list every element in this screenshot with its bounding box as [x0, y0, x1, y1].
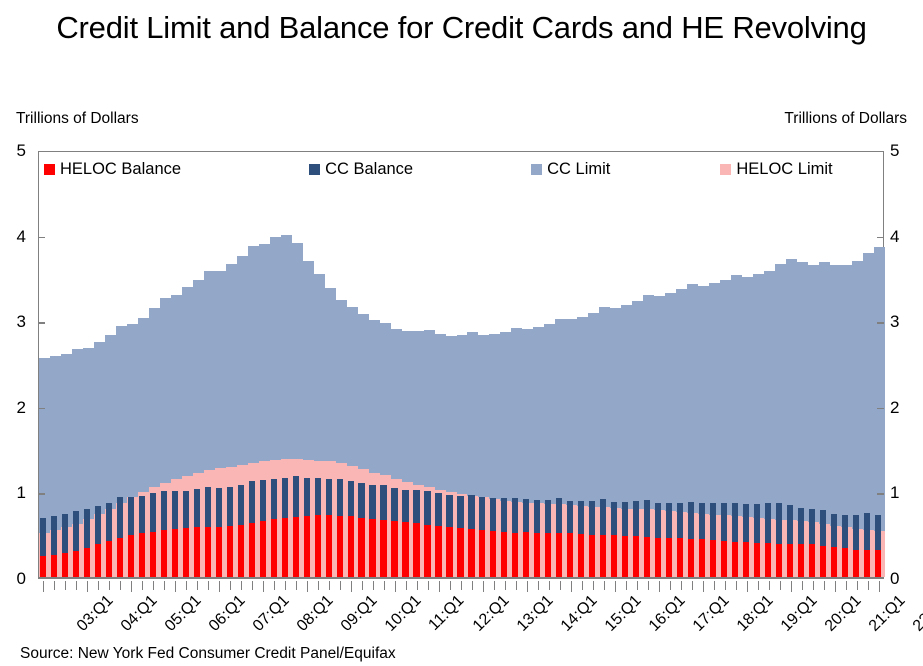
- legend-swatch-icon: [44, 164, 55, 175]
- legend-swatch-icon: [309, 164, 320, 175]
- bar-group[interactable]: [632, 152, 643, 577]
- x-tick-mark: [549, 581, 550, 590]
- bar-group[interactable]: [566, 152, 577, 577]
- x-tick-mark: [439, 581, 440, 592]
- legend-label: CC Limit: [547, 160, 610, 179]
- x-tick-mark: [615, 581, 616, 592]
- x-tick-mark: [417, 581, 418, 590]
- bar-segment-heloc-balance: [106, 541, 112, 577]
- bar-group[interactable]: [358, 152, 369, 577]
- bar-segment-heloc-balance: [380, 520, 386, 577]
- y-axis-unit-right: Trillions of Dollars: [784, 110, 907, 128]
- chart-title: Credit Limit and Balance for Credit Card…: [0, 8, 923, 48]
- x-tick-mark: [571, 581, 572, 592]
- bar-group[interactable]: [489, 152, 500, 577]
- y-tick-label-left: 2: [0, 399, 26, 416]
- bar-segment-heloc-balance: [304, 516, 310, 577]
- x-tick-label: 15:Q1: [602, 592, 646, 636]
- bar-segment-heloc-balance: [853, 550, 859, 577]
- y-tick-label-left: 4: [0, 228, 26, 245]
- x-tick-mark: [395, 581, 396, 592]
- bar-segment-heloc-balance: [655, 538, 661, 577]
- bar-group[interactable]: [665, 152, 676, 577]
- y-tick-label-right: 0: [890, 570, 916, 587]
- bar-group[interactable]: [544, 152, 555, 577]
- plot-inner: [39, 152, 883, 577]
- x-tick-label: 09:Q1: [338, 592, 382, 636]
- bar-segment-heloc-balance: [831, 547, 837, 577]
- bar-segment-heloc-balance: [293, 517, 299, 577]
- bar-segment-heloc-balance: [512, 533, 518, 578]
- bar-segment-heloc-balance: [754, 543, 760, 577]
- bar-segment-heloc-balance: [600, 535, 606, 577]
- bar-segment-heloc-balance: [578, 534, 584, 577]
- y-tick-mark: [38, 237, 45, 239]
- x-tick-mark: [208, 581, 209, 590]
- x-tick-mark: [736, 581, 737, 590]
- bar-segment-heloc-balance: [809, 544, 815, 577]
- x-tick-mark: [758, 581, 759, 590]
- bar-group[interactable]: [786, 152, 797, 577]
- bar-group[interactable]: [171, 152, 182, 577]
- bar-segment-heloc-balance: [666, 538, 672, 577]
- bar-group[interactable]: [753, 152, 764, 577]
- x-tick-mark: [472, 581, 473, 590]
- x-tick-label: 17:Q1: [690, 592, 734, 636]
- bar-segment-heloc-balance: [413, 523, 419, 577]
- bar-segment-heloc-balance: [787, 544, 793, 577]
- bar-segment-heloc-balance: [567, 533, 573, 577]
- x-tick-mark: [428, 581, 429, 590]
- bar-group[interactable]: [709, 152, 720, 577]
- bar-segment-heloc-balance: [402, 522, 408, 577]
- bar-group[interactable]: [500, 152, 511, 577]
- bar-segment-heloc-balance: [238, 525, 244, 577]
- bar-group[interactable]: [193, 152, 204, 577]
- bar-segment-heloc-balance: [732, 542, 738, 577]
- bar-group[interactable]: [215, 152, 226, 577]
- chart-legend: HELOC BalanceCC BalanceCC LimitHELOC Lim…: [44, 158, 878, 180]
- bar-group[interactable]: [808, 152, 819, 577]
- x-tick-label: 10:Q1: [382, 592, 426, 636]
- x-tick-label: 11:Q1: [425, 592, 468, 635]
- bar-group[interactable]: [588, 152, 599, 577]
- bar-group[interactable]: [105, 152, 116, 577]
- x-tick-mark: [846, 581, 847, 590]
- y-tick-label-right: 3: [890, 313, 916, 330]
- bar-segment-heloc-balance: [40, 556, 46, 577]
- bar-group[interactable]: [841, 152, 852, 577]
- bar-group[interactable]: [237, 152, 248, 577]
- x-tick-mark: [582, 581, 583, 590]
- bar-segment-heloc-balance: [271, 519, 277, 577]
- bar-group[interactable]: [731, 152, 742, 577]
- x-tick-mark: [659, 581, 660, 592]
- bar-group[interactable]: [446, 152, 457, 577]
- x-tick-mark: [230, 581, 231, 590]
- y-tick-mark: [877, 408, 884, 410]
- bar-segment-heloc-balance: [490, 531, 496, 577]
- x-tick-mark: [516, 581, 517, 590]
- legend-swatch-icon: [720, 164, 731, 175]
- bar-group[interactable]: [852, 152, 863, 577]
- bar-segment-heloc-balance: [205, 527, 211, 577]
- bar-group[interactable]: [248, 152, 259, 577]
- bar-segment-heloc-balance: [699, 539, 705, 577]
- bar-segment-heloc-balance: [51, 555, 57, 577]
- bar-group[interactable]: [830, 152, 841, 577]
- x-tick-mark: [120, 581, 121, 590]
- x-tick-mark: [604, 581, 605, 590]
- x-tick-mark: [54, 581, 55, 590]
- bar-segment-heloc-balance: [743, 542, 749, 577]
- bar-segment-heloc-balance: [161, 530, 167, 577]
- bar-group[interactable]: [413, 152, 424, 577]
- bar-segment-heloc-balance: [117, 538, 123, 577]
- bar-segment-heloc-balance: [611, 535, 617, 577]
- x-tick-mark: [637, 581, 638, 590]
- source-note: Source: New York Fed Consumer Credit Pan…: [20, 645, 396, 663]
- bar-group[interactable]: [149, 152, 160, 577]
- x-tick-mark: [406, 581, 407, 590]
- bar-segment-heloc-balance: [424, 525, 430, 577]
- bar-segment-heloc-balance: [721, 541, 727, 577]
- x-tick-mark: [527, 581, 528, 592]
- bar-segment-heloc-balance: [435, 526, 441, 577]
- x-tick-mark: [681, 581, 682, 590]
- bar-group[interactable]: [698, 152, 709, 577]
- y-tick-label-right: 2: [890, 399, 916, 416]
- bars-layer: [39, 152, 883, 577]
- bar-segment-heloc-balance: [457, 528, 463, 577]
- x-tick-mark: [43, 581, 44, 592]
- y-tick-label-right: 4: [890, 228, 916, 245]
- x-tick-mark: [648, 581, 649, 590]
- x-tick-mark: [340, 581, 341, 590]
- bar-group[interactable]: [687, 152, 698, 577]
- y-tick-mark: [38, 493, 45, 495]
- x-tick-mark: [824, 581, 825, 590]
- x-tick-label: 22:Q1: [909, 592, 923, 636]
- x-tick-mark: [494, 581, 495, 590]
- bar-segment-heloc-balance: [249, 523, 255, 577]
- bar-segment-heloc-balance: [369, 519, 375, 577]
- x-tick-mark: [252, 581, 253, 590]
- bar-group[interactable]: [336, 152, 347, 577]
- legend-item-cc-balance[interactable]: CC Balance: [309, 160, 413, 179]
- chart-container: Credit Limit and Balance for Credit Card…: [0, 0, 923, 666]
- bar-segment-heloc-balance: [326, 515, 332, 577]
- bar-segment-heloc-balance: [358, 518, 364, 577]
- bar-group[interactable]: [50, 152, 61, 577]
- bar-group[interactable]: [314, 152, 325, 577]
- x-tick-label: 21:Q1: [865, 592, 909, 636]
- bar-group[interactable]: [577, 152, 588, 577]
- x-tick-mark: [802, 581, 803, 590]
- bar-group[interactable]: [457, 152, 468, 577]
- bar-group[interactable]: [511, 152, 522, 577]
- x-tick-label: 08:Q1: [294, 592, 338, 636]
- bar-segment-heloc-balance: [864, 550, 870, 577]
- x-tick-mark: [65, 581, 66, 590]
- x-tick-mark: [296, 581, 297, 590]
- bar-segment-heloc-balance: [227, 526, 233, 577]
- x-tick-mark: [351, 581, 352, 592]
- x-tick-mark: [219, 581, 220, 592]
- x-tick-mark: [769, 581, 770, 590]
- bar-segment-heloc-balance: [556, 533, 562, 577]
- bar-segment-heloc-balance: [172, 529, 178, 577]
- bar-group[interactable]: [204, 152, 215, 577]
- bar-group[interactable]: [621, 152, 632, 577]
- bar-group[interactable]: [402, 152, 413, 577]
- x-tick-mark: [373, 581, 374, 590]
- bar-group[interactable]: [160, 152, 171, 577]
- x-tick-mark: [98, 581, 99, 590]
- bar-segment-heloc-balance: [315, 515, 321, 577]
- x-tick-mark: [670, 581, 671, 590]
- bar-group[interactable]: [797, 152, 808, 577]
- bar-segment-heloc-balance: [765, 543, 771, 577]
- x-tick-mark: [362, 581, 363, 590]
- y-tick-label-left: 3: [0, 313, 26, 330]
- bar-segment-heloc-balance: [820, 546, 826, 577]
- bar-group[interactable]: [369, 152, 380, 577]
- bar-group[interactable]: [325, 152, 336, 577]
- x-tick-label: 18:Q1: [733, 592, 777, 636]
- x-tick-label: 19:Q1: [777, 592, 821, 636]
- bar-segment-heloc-balance: [194, 527, 200, 577]
- x-tick-mark: [164, 581, 165, 590]
- x-tick-mark: [857, 581, 858, 590]
- bar-segment-heloc-balance: [523, 532, 529, 577]
- legend-item-heloc-limit[interactable]: HELOC Limit: [720, 160, 832, 179]
- bar-segment-heloc-balance: [842, 548, 848, 577]
- x-tick-mark: [131, 581, 132, 592]
- bar-group[interactable]: [281, 152, 292, 577]
- bar-group[interactable]: [292, 152, 303, 577]
- bar-segment-heloc-balance: [622, 536, 628, 577]
- x-tick-mark: [263, 581, 264, 592]
- bar-group[interactable]: [424, 152, 435, 577]
- bar-segment-heloc-balance: [589, 535, 595, 577]
- legend-label: HELOC Balance: [60, 160, 181, 179]
- x-tick-mark: [835, 581, 836, 592]
- x-tick-mark: [384, 581, 385, 590]
- bar-group[interactable]: [478, 152, 489, 577]
- bar-group[interactable]: [138, 152, 149, 577]
- x-tick-mark: [274, 581, 275, 590]
- x-tick-mark: [538, 581, 539, 590]
- legend-swatch-icon: [531, 164, 542, 175]
- bar-group[interactable]: [863, 152, 874, 577]
- bar-segment-heloc-balance: [391, 521, 397, 577]
- bar-segment-heloc-balance: [875, 550, 881, 577]
- bar-group[interactable]: [742, 152, 753, 577]
- y-tick-mark: [877, 322, 884, 324]
- bar-group[interactable]: [654, 152, 665, 577]
- x-tick-mark: [747, 581, 748, 592]
- x-tick-mark: [461, 581, 462, 590]
- bar-group[interactable]: [720, 152, 731, 577]
- bar-segment-heloc-balance: [776, 544, 782, 577]
- x-tick-mark: [142, 581, 143, 590]
- x-tick-mark: [868, 581, 869, 590]
- bar-segment-heloc-balance: [633, 536, 639, 577]
- bar-segment-heloc-balance: [95, 544, 101, 577]
- legend-label: HELOC Limit: [736, 160, 832, 179]
- x-tick-mark: [285, 581, 286, 590]
- bar-group[interactable]: [643, 152, 654, 577]
- bar-segment-heloc-balance: [644, 537, 650, 577]
- x-tick-label: 12:Q1: [470, 592, 514, 636]
- x-tick-mark: [593, 581, 594, 590]
- x-tick-mark: [791, 581, 792, 592]
- bar-group[interactable]: [676, 152, 687, 577]
- bar-group[interactable]: [83, 152, 94, 577]
- x-tick-label: 13:Q1: [514, 592, 558, 636]
- bar-segment-heloc-balance: [479, 530, 485, 577]
- x-tick-label: 05:Q1: [162, 592, 206, 636]
- x-tick-mark: [714, 581, 715, 590]
- bar-segment-heloc-balance: [73, 551, 79, 577]
- bar-segment-heloc-balance: [139, 533, 145, 577]
- x-tick-mark: [505, 581, 506, 590]
- bar-group[interactable]: [391, 152, 402, 577]
- bar-group[interactable]: [380, 152, 391, 577]
- y-tick-label-right: 5: [890, 142, 916, 159]
- x-tick-mark: [175, 581, 176, 592]
- bar-group[interactable]: [127, 152, 138, 577]
- bar-group[interactable]: [72, 152, 83, 577]
- x-tick-mark: [692, 581, 693, 590]
- bar-group[interactable]: [259, 152, 270, 577]
- y-axis-unit-left: Trillions of Dollars: [16, 110, 139, 128]
- x-tick-mark: [318, 581, 319, 590]
- x-tick-mark: [780, 581, 781, 590]
- bar-segment-heloc-balance: [183, 528, 189, 577]
- x-tick-mark: [813, 581, 814, 590]
- bar-segment-heloc-balance: [337, 516, 343, 577]
- bar-segment-heloc-balance: [710, 540, 716, 577]
- bar-group[interactable]: [94, 152, 105, 577]
- x-tick-mark: [560, 581, 561, 590]
- x-tick-label: 04:Q1: [118, 592, 162, 636]
- bar-segment-heloc-balance: [62, 553, 68, 577]
- bar-group[interactable]: [303, 152, 314, 577]
- bar-group[interactable]: [226, 152, 237, 577]
- x-tick-label: 03:Q1: [74, 592, 118, 636]
- x-tick-mark: [186, 581, 187, 590]
- y-tick-label-left: 5: [0, 142, 26, 159]
- x-tick-mark: [450, 581, 451, 590]
- bar-segment-heloc-balance: [468, 529, 474, 577]
- y-tick-label-right: 1: [890, 484, 916, 501]
- bar-segment-heloc-balance: [534, 533, 540, 578]
- bar-segment-heloc-balance: [446, 527, 452, 577]
- bar-group[interactable]: [61, 152, 72, 577]
- x-tick-mark: [87, 581, 88, 592]
- y-tick-mark: [38, 322, 45, 324]
- y-tick-mark: [877, 237, 884, 239]
- bar-group[interactable]: [775, 152, 786, 577]
- x-tick-mark: [483, 581, 484, 592]
- x-tick-mark: [197, 581, 198, 590]
- x-tick-mark: [329, 581, 330, 590]
- plot-area: [38, 151, 884, 579]
- bar-group[interactable]: [819, 152, 830, 577]
- x-tick-mark: [879, 581, 880, 592]
- x-tick-label: 07:Q1: [250, 592, 294, 636]
- bar-segment-heloc-balance: [677, 538, 683, 577]
- x-tick-mark: [241, 581, 242, 590]
- bar-group[interactable]: [347, 152, 358, 577]
- x-tick-mark: [626, 581, 627, 590]
- y-tick-mark: [38, 408, 45, 410]
- bar-segment-heloc-balance: [545, 533, 551, 577]
- x-tick-mark: [153, 581, 154, 590]
- bar-segment-heloc-balance: [688, 539, 694, 577]
- legend-label: CC Balance: [325, 160, 413, 179]
- legend-item-cc-limit[interactable]: CC Limit: [531, 160, 610, 179]
- x-tick-mark: [703, 581, 704, 592]
- bar-segment-heloc-balance: [150, 532, 156, 577]
- bar-segment-heloc-balance: [84, 548, 90, 577]
- x-tick-mark: [76, 581, 77, 590]
- x-tick-mark: [109, 581, 110, 590]
- bar-segment-heloc-balance: [216, 527, 222, 578]
- bar-segment-heloc-balance: [260, 521, 266, 577]
- bar-group[interactable]: [39, 152, 50, 577]
- bar-segment-heloc-balance: [282, 518, 288, 577]
- bar-segment-heloc-balance: [798, 544, 804, 577]
- bar-group[interactable]: [610, 152, 621, 577]
- bar-segment-heloc-balance: [128, 535, 134, 577]
- y-tick-mark: [877, 493, 884, 495]
- bar-group[interactable]: [533, 152, 544, 577]
- x-tick-label: 16:Q1: [646, 592, 690, 636]
- bar-group[interactable]: [599, 152, 610, 577]
- bar-group[interactable]: [435, 152, 446, 577]
- bar-segment-heloc-balance: [501, 532, 507, 577]
- x-tick-mark: [725, 581, 726, 590]
- legend-item-heloc-balance[interactable]: HELOC Balance: [44, 160, 181, 179]
- bar-group[interactable]: [522, 152, 533, 577]
- bar-group[interactable]: [270, 152, 281, 577]
- y-tick-label-left: 1: [0, 484, 26, 501]
- bar-group[interactable]: [764, 152, 775, 577]
- x-tick-label: 14:Q1: [558, 592, 602, 636]
- x-tick-mark: [307, 581, 308, 592]
- bar-group[interactable]: [467, 152, 478, 577]
- bar-group[interactable]: [874, 152, 885, 577]
- bar-segment-heloc-balance: [348, 516, 354, 577]
- x-tick-label: 20:Q1: [821, 592, 865, 636]
- bar-group[interactable]: [555, 152, 566, 577]
- bar-group[interactable]: [116, 152, 127, 577]
- y-tick-label-left: 0: [0, 570, 26, 587]
- x-tick-label: 06:Q1: [206, 592, 250, 636]
- bar-group[interactable]: [182, 152, 193, 577]
